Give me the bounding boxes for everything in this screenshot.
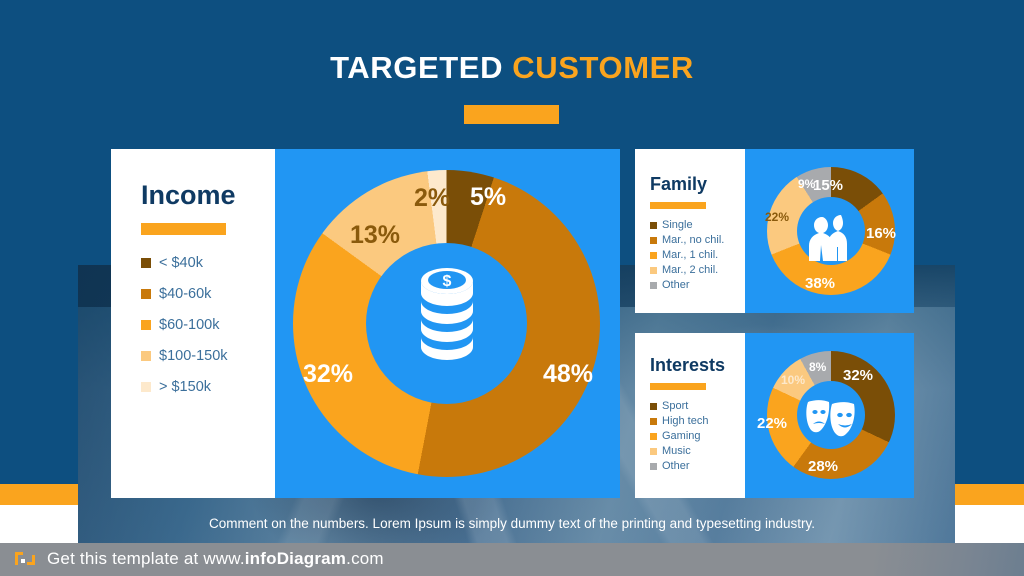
footer-suffix: .com [346, 549, 384, 568]
footer-prefix: Get this template at www. [47, 549, 245, 568]
legend-item-label: Other [662, 279, 690, 291]
accent-bar-right [955, 484, 1024, 505]
family-legend: Family SingleMar., no chil.Mar., 1 chil.… [650, 174, 745, 294]
legend-swatch [650, 418, 657, 425]
legend-swatch [141, 382, 151, 392]
income-legend: Income < $40k$40-60k$60-100k$100-150k> $… [141, 180, 281, 410]
legend-item-label: $100-150k [159, 348, 228, 364]
legend-item[interactable]: Mar., 1 chil. [650, 249, 745, 261]
income-heading-rule [141, 223, 226, 235]
comment-text: Comment on the numbers. Lorem Ipsum is s… [0, 516, 1024, 531]
legend-item-label: Mar., no chil. [662, 234, 724, 246]
interests-label-4: 8% [809, 361, 826, 373]
legend-item-label: > $150k [159, 379, 211, 395]
legend-item-label: Other [662, 460, 690, 472]
interests-label-1: 28% [808, 459, 838, 474]
legend-swatch [141, 289, 151, 299]
legend-swatch [141, 258, 151, 268]
family-label-2: 38% [805, 276, 835, 291]
legend-item-label: Gaming [662, 430, 701, 442]
legend-item[interactable]: > $150k [141, 379, 281, 395]
legend-swatch [650, 252, 657, 259]
interests-label-3: 10% [781, 374, 805, 386]
legend-item[interactable]: High tech [650, 415, 745, 427]
legend-item[interactable]: Mar., 2 chil. [650, 264, 745, 276]
theater-masks-icon [804, 398, 858, 438]
footer-brand: infoDiagram [245, 549, 346, 568]
legend-item[interactable]: $40-60k [141, 286, 281, 302]
interests-label-2: 22% [757, 416, 787, 431]
couple-icon [805, 213, 857, 261]
interests-heading-rule [650, 383, 706, 390]
income-label-3: 13% [350, 223, 400, 248]
legend-item-label: < $40k [159, 255, 203, 271]
infodiagram-logo-icon [14, 551, 36, 569]
family-label-0: 15% [813, 178, 843, 193]
legend-item[interactable]: Other [650, 460, 745, 472]
interests-label-0: 32% [843, 368, 873, 383]
page-title: TARGETED CUSTOMER [0, 50, 1024, 86]
svg-text:$: $ [443, 273, 452, 290]
legend-item-label: Sport [662, 400, 688, 412]
legend-item-label: High tech [662, 415, 708, 427]
legend-item-label: Music [662, 445, 691, 457]
family-heading-rule [650, 202, 706, 209]
income-heading: Income [141, 180, 281, 211]
legend-swatch [141, 320, 151, 330]
legend-swatch [650, 267, 657, 274]
legend-item[interactable]: Sport [650, 400, 745, 412]
legend-item[interactable]: Mar., no chil. [650, 234, 745, 246]
legend-swatch [650, 463, 657, 470]
income-label-2: 32% [303, 362, 353, 387]
legend-swatch [650, 448, 657, 455]
income-label-1: 48% [543, 362, 593, 387]
income-label-4: 2% [414, 186, 450, 211]
family-legend-list: SingleMar., no chil.Mar., 1 chil.Mar., 2… [650, 219, 745, 291]
legend-item-label: $60-100k [159, 317, 219, 333]
family-heading: Family [650, 174, 745, 195]
interests-legend-list: SportHigh techGamingMusicOther [650, 400, 745, 472]
legend-item[interactable]: Music [650, 445, 745, 457]
income-legend-list: < $40k$40-60k$60-100k$100-150k> $150k [141, 255, 281, 395]
title-underline [464, 105, 559, 124]
legend-swatch [650, 403, 657, 410]
family-label-3: 22% [765, 211, 789, 223]
legend-swatch [650, 222, 657, 229]
income-label-0: 5% [470, 185, 506, 210]
legend-item-label: $40-60k [159, 286, 211, 302]
page-title-main: TARGETED [330, 50, 503, 85]
legend-item-label: Single [662, 219, 693, 231]
footer-text: Get this template at www.infoDiagram.com [47, 549, 384, 569]
legend-item[interactable]: $100-150k [141, 348, 281, 364]
page-title-accent: CUSTOMER [512, 50, 694, 85]
legend-swatch [650, 282, 657, 289]
legend-item[interactable]: Other [650, 279, 745, 291]
legend-item[interactable]: < $40k [141, 255, 281, 271]
accent-bar-left [0, 484, 78, 505]
interests-legend: Interests SportHigh techGamingMusicOther [650, 355, 745, 475]
interests-heading: Interests [650, 355, 745, 376]
legend-swatch [650, 433, 657, 440]
legend-item-label: Mar., 1 chil. [662, 249, 718, 261]
legend-item[interactable]: $60-100k [141, 317, 281, 333]
family-label-1: 16% [866, 226, 896, 241]
money-stack-icon: $ [412, 265, 482, 365]
legend-swatch [650, 237, 657, 244]
legend-item[interactable]: Single [650, 219, 745, 231]
legend-item-label: Mar., 2 chil. [662, 264, 718, 276]
legend-swatch [141, 351, 151, 361]
legend-item[interactable]: Gaming [650, 430, 745, 442]
family-label-4: 9% [798, 178, 815, 190]
